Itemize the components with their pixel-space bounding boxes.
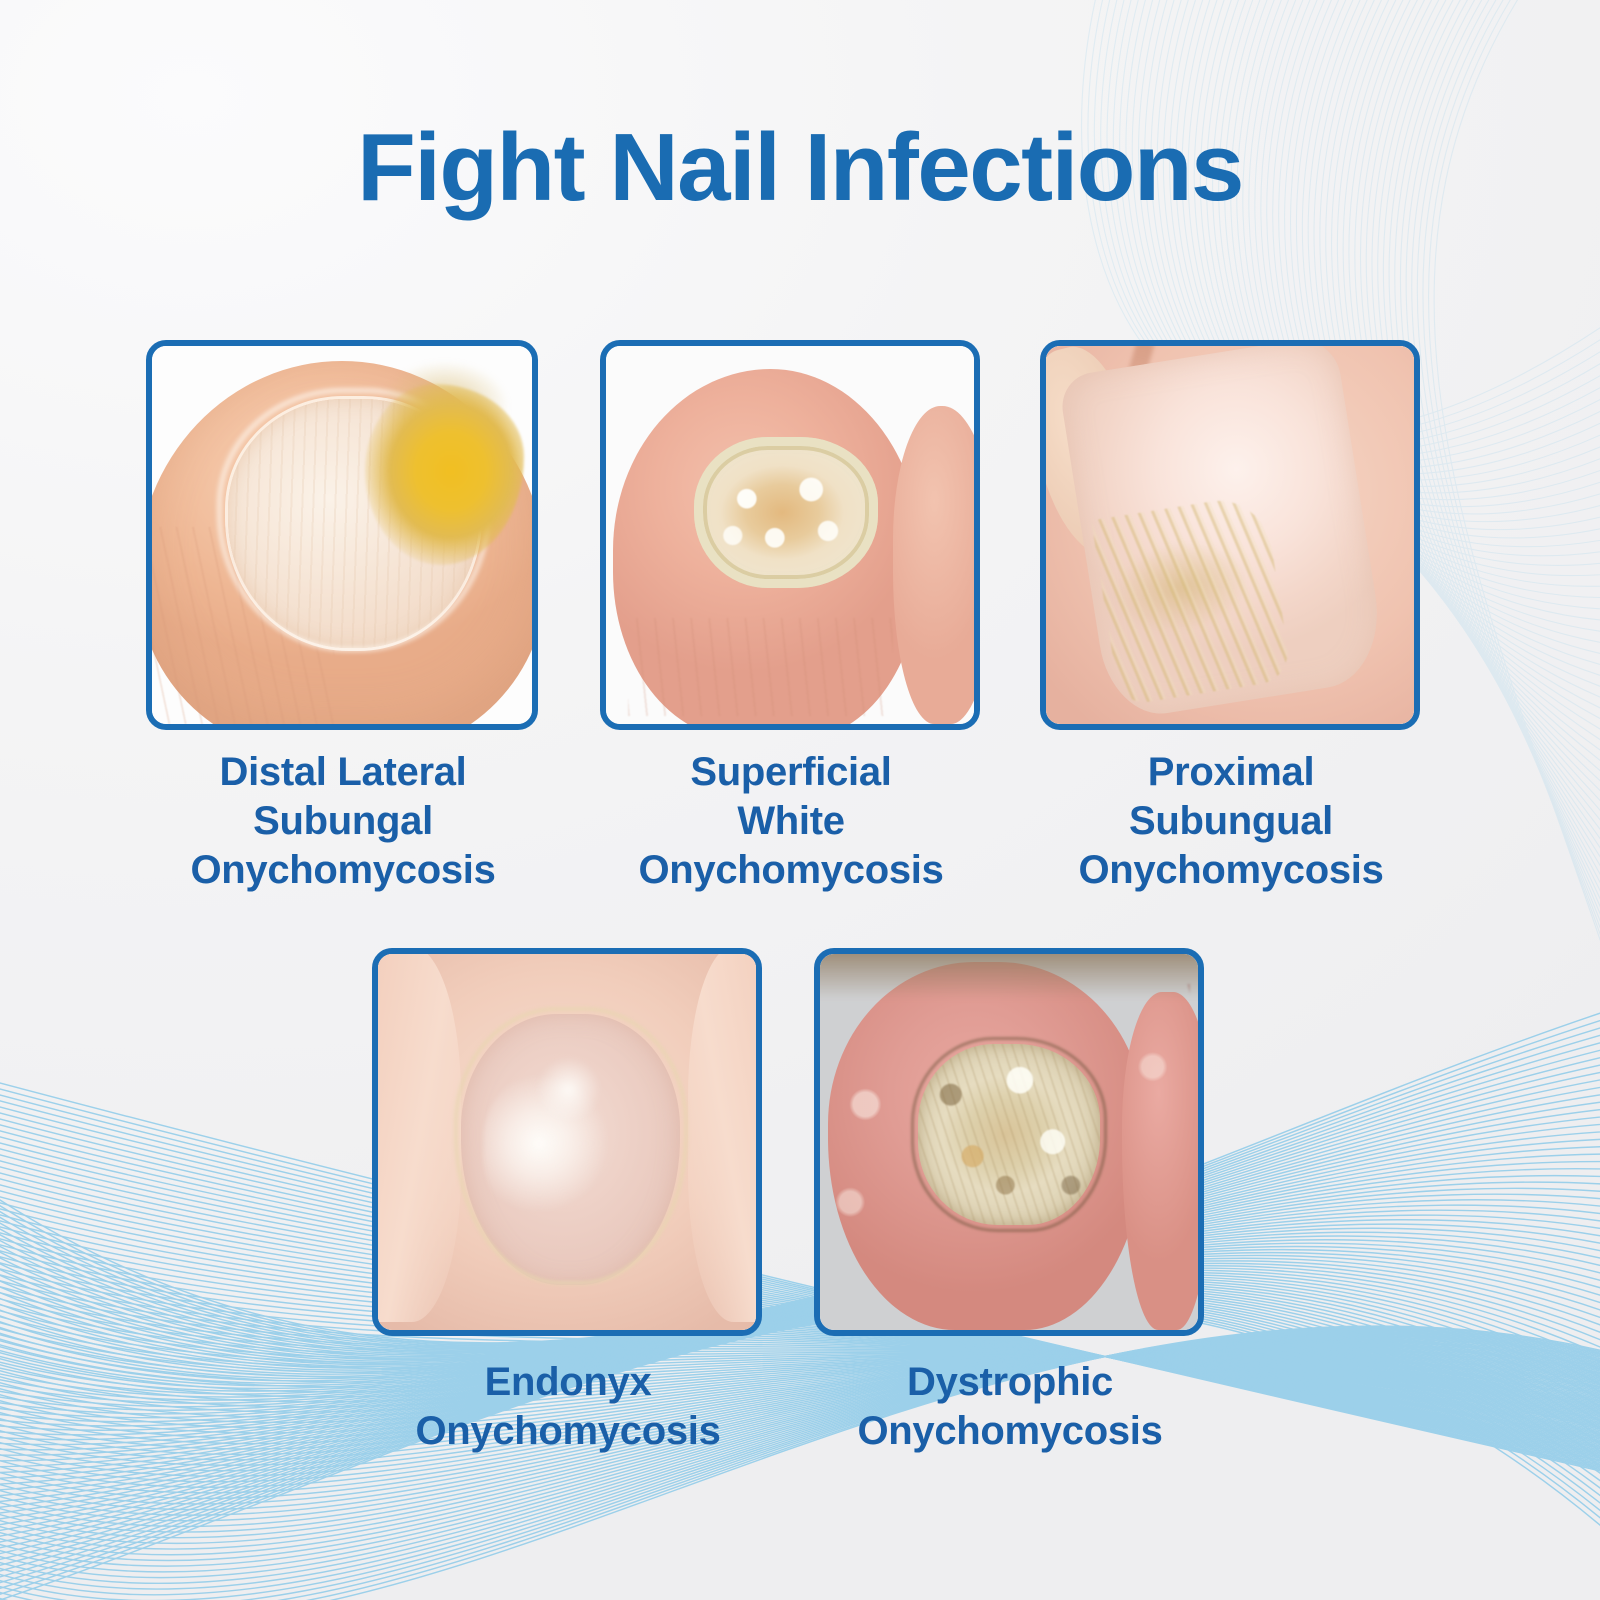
caption-line: Subungual xyxy=(1000,797,1462,846)
caption-proximal-subungual: Proximal Subungual Onychomycosis xyxy=(1000,748,1462,894)
caption-distal-lateral-subungal: Distal Lateral Subungal Onychomycosis xyxy=(110,748,576,894)
nail-image-card-distal-lateral-subungal[interactable] xyxy=(146,340,538,730)
nail-photo-superficial-white xyxy=(606,346,974,724)
infographic-page: Fight Nail Infections Distal Lateral Sub… xyxy=(0,0,1600,1600)
caption-superficial-white: Superficial White Onychomycosis xyxy=(560,748,1022,894)
nail-image-card-proximal-subungual[interactable] xyxy=(1040,340,1420,730)
caption-line: Onychomycosis xyxy=(560,846,1022,895)
caption-endonyx: Endonyx Onychomycosis xyxy=(340,1358,796,1456)
caption-line: Onychomycosis xyxy=(110,846,576,895)
caption-line: Endonyx xyxy=(340,1358,796,1407)
nail-image-card-dystrophic[interactable] xyxy=(814,948,1204,1336)
nail-image-card-endonyx[interactable] xyxy=(372,948,762,1336)
caption-line: Onychomycosis xyxy=(782,1407,1238,1456)
caption-line: Dystrophic xyxy=(782,1358,1238,1407)
caption-line: Onychomycosis xyxy=(340,1407,796,1456)
caption-line: Distal Lateral xyxy=(110,748,576,797)
nail-photo-distal-lateral-subungal xyxy=(152,346,532,724)
nail-photo-proximal-subungual xyxy=(1046,346,1414,724)
nail-photo-endonyx xyxy=(378,954,756,1330)
caption-line: Proximal xyxy=(1000,748,1462,797)
caption-line: Subungal xyxy=(110,797,576,846)
caption-line: Superficial xyxy=(560,748,1022,797)
caption-line: White xyxy=(560,797,1022,846)
caption-dystrophic: Dystrophic Onychomycosis xyxy=(782,1358,1238,1456)
nail-photo-dystrophic xyxy=(820,954,1198,1330)
caption-line: Onychomycosis xyxy=(1000,846,1462,895)
nail-image-card-superficial-white[interactable] xyxy=(600,340,980,730)
page-title: Fight Nail Infections xyxy=(0,118,1600,219)
